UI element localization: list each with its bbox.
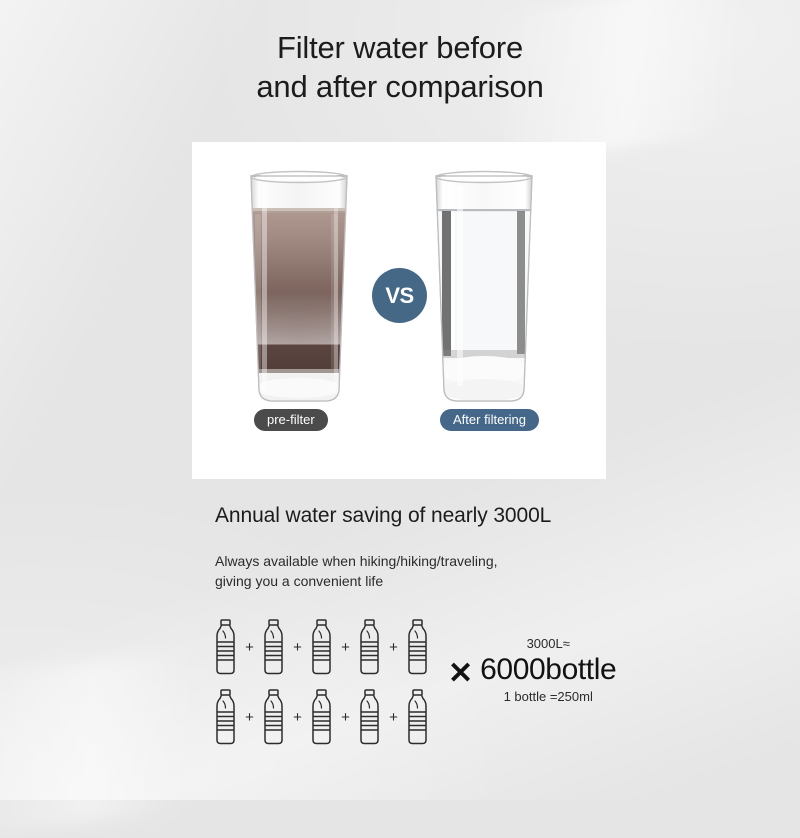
page-title: Filter water before and after comparison bbox=[0, 28, 800, 106]
water-bottle-icon bbox=[258, 618, 289, 676]
savings-body-copy: Always available when hiking/hiking/trav… bbox=[215, 551, 498, 591]
water-bottle-icon bbox=[258, 688, 289, 746]
plus-symbol: + bbox=[337, 640, 354, 655]
label-pre-filter: pre-filter bbox=[254, 409, 328, 431]
plus-symbol: + bbox=[289, 640, 306, 655]
plus-symbol: + bbox=[241, 710, 258, 725]
water-bottle-icon bbox=[210, 688, 241, 746]
multiply-icon: ✕ bbox=[448, 659, 473, 689]
water-bottle-icon bbox=[210, 618, 241, 676]
plus-symbol: + bbox=[289, 710, 306, 725]
vs-badge: VS bbox=[372, 268, 427, 323]
plus-symbol: + bbox=[337, 710, 354, 725]
water-bottle-icon bbox=[306, 618, 337, 676]
savings-body-line-1: Always available when hiking/hiking/trav… bbox=[215, 551, 498, 571]
bottle-count-block: ✕ 3000L≈ 6000bottle 1 bottle =250ml bbox=[448, 636, 616, 706]
glass-before-filter bbox=[239, 164, 359, 409]
glass-after-filter bbox=[424, 164, 544, 409]
plus-symbol: + bbox=[385, 640, 402, 655]
page-background: Filter water before and after comparison bbox=[0, 0, 800, 800]
drinking-glass-dirty-icon bbox=[239, 164, 359, 409]
water-bottle-icon bbox=[402, 618, 433, 676]
savings-headline: Annual water saving of nearly 3000L bbox=[215, 504, 551, 528]
plus-symbol: + bbox=[385, 710, 402, 725]
page-title-line-2: and after comparison bbox=[0, 67, 800, 106]
water-bottle-icon bbox=[354, 618, 385, 676]
bottle-row: + + + bbox=[210, 686, 433, 748]
plus-symbol: + bbox=[241, 640, 258, 655]
volume-approx-label: 3000L≈ bbox=[480, 636, 616, 652]
label-after-filtering: After filtering bbox=[440, 409, 539, 431]
savings-body-line-2: giving you a convenient life bbox=[215, 571, 498, 591]
comparison-photo-panel: VS pre-filter After filtering bbox=[192, 142, 606, 479]
bottle-row: + + + bbox=[210, 616, 433, 678]
drinking-glass-clean-icon bbox=[424, 164, 544, 409]
water-bottle-icon bbox=[306, 688, 337, 746]
bottle-count-value: 6000bottle bbox=[480, 652, 616, 688]
water-bottle-icon bbox=[402, 688, 433, 746]
bottle-illustration-grid: + + + bbox=[210, 616, 433, 748]
page-title-line-1: Filter water before bbox=[0, 28, 800, 67]
bottle-volume-note: 1 bottle =250ml bbox=[480, 688, 616, 706]
bottle-count-stack: 3000L≈ 6000bottle 1 bottle =250ml bbox=[480, 636, 616, 706]
water-bottle-icon bbox=[354, 688, 385, 746]
